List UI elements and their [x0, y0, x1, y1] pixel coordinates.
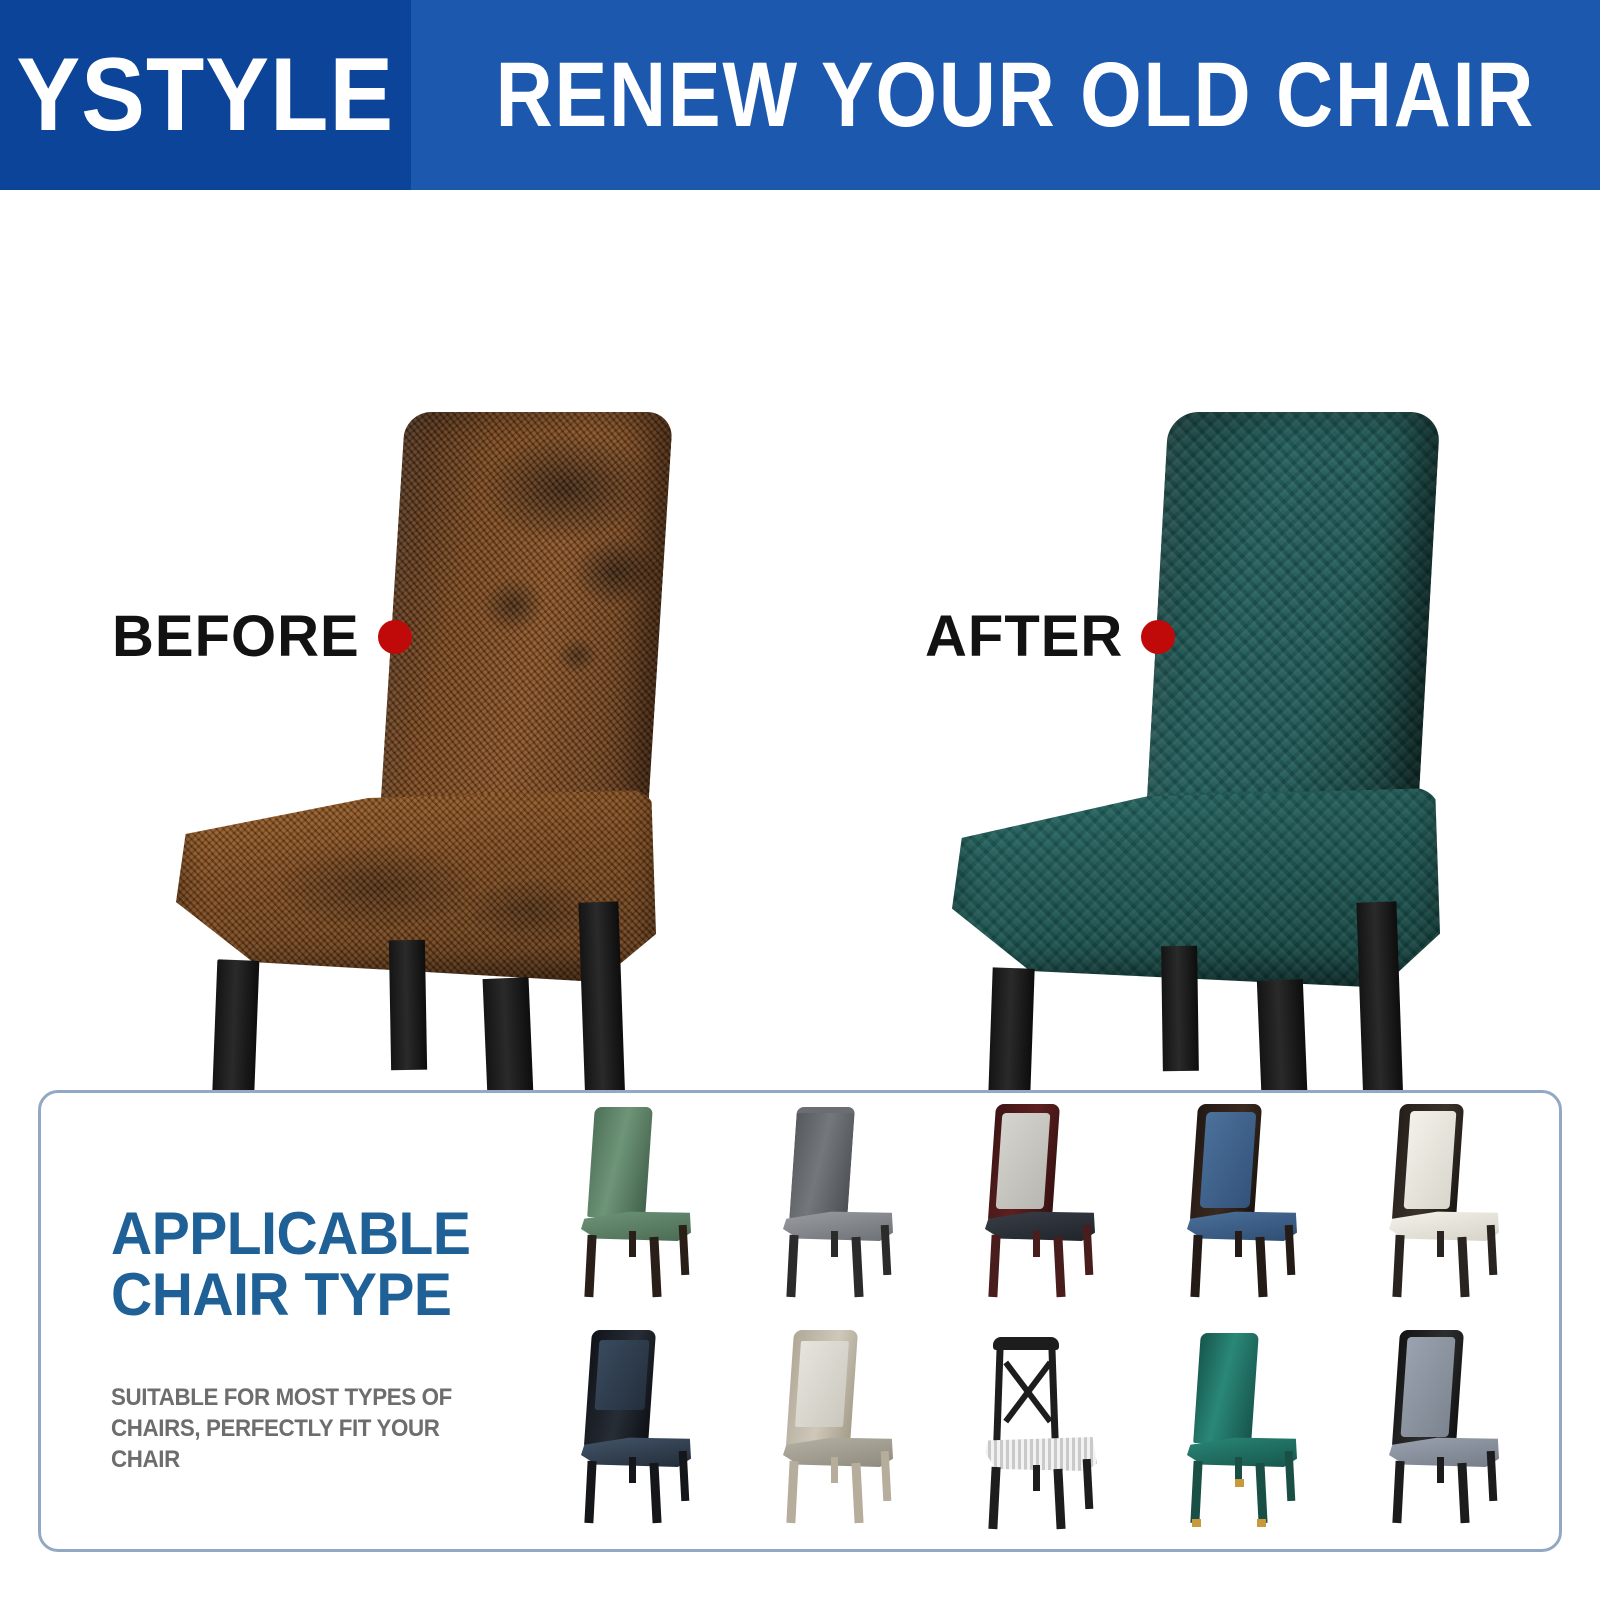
chair-leg: [1053, 1469, 1065, 1529]
after-label-group: AFTER: [925, 608, 1175, 666]
chair-thumbnail: [743, 1097, 945, 1323]
black-cross-back-chair: [981, 1333, 1111, 1523]
chair-thumbnail: [743, 1323, 945, 1549]
chair-leg: [1235, 1231, 1242, 1257]
chair-leg: [851, 1463, 863, 1523]
red-dot-icon: [1141, 620, 1175, 654]
chair-leg: [831, 1231, 838, 1257]
chair-leg: [1255, 1463, 1267, 1523]
chair-backrest: [993, 1337, 1059, 1441]
applicable-chair-type-panel: APPLICABLE CHAIR TYPE SUITABLE FOR MOST …: [38, 1090, 1562, 1552]
chair-leg: [1457, 1463, 1469, 1523]
chair-foot-cap: [1192, 1519, 1201, 1527]
beige-classic-chair: [779, 1333, 909, 1523]
chair-leg: [1392, 1235, 1404, 1297]
chair-leg: [1437, 1231, 1444, 1257]
chair-leg: [1255, 1237, 1267, 1297]
chair-thumbnail: [945, 1097, 1147, 1323]
chair-leg: [1053, 1237, 1065, 1297]
after-chair-backrest: [1145, 412, 1440, 824]
chair-leg: [1033, 1465, 1040, 1491]
mahogany-light-panel-chair: [981, 1107, 1111, 1297]
chair-backrest: [1404, 1111, 1457, 1209]
before-chair-leg: [389, 940, 427, 1071]
red-dot-icon: [378, 620, 412, 654]
chair-leg: [629, 1231, 636, 1257]
after-chair-leg: [1356, 901, 1403, 1110]
chair-leg: [649, 1463, 661, 1523]
chair-leg: [851, 1237, 863, 1297]
teal-velvet-chair: [1183, 1333, 1313, 1523]
before-chair-backrest: [379, 412, 673, 832]
panel-title-line1: APPLICABLE: [111, 1203, 520, 1264]
chair-foot-cap: [1257, 1519, 1266, 1527]
chair-thumbnail: [541, 1323, 743, 1549]
tagline-block: RENEW YOUR OLD CHAIR: [411, 0, 1600, 190]
before-chair-leg: [578, 901, 625, 1112]
chair-thumbnail: [1349, 1323, 1551, 1549]
chair-leg: [1190, 1235, 1202, 1297]
chair-leg: [649, 1237, 661, 1297]
gray-panel-back-chair: [779, 1107, 909, 1297]
chair-leg: [629, 1457, 636, 1483]
chair-backrest: [795, 1341, 849, 1427]
chair-type-grid: [541, 1097, 1551, 1549]
chair-leg: [988, 1235, 1000, 1297]
navy-leather-chair: [577, 1333, 707, 1523]
cream-slim-back-chair: [1385, 1107, 1515, 1297]
chair-stile: [993, 1345, 1003, 1441]
chair-seat: [985, 1437, 1097, 1471]
chair-backrest: [1200, 1112, 1257, 1208]
chair-backrest: [595, 1340, 650, 1410]
chair-leg: [584, 1461, 596, 1523]
chair-leg: [1190, 1461, 1202, 1523]
chair-leg: [1392, 1461, 1404, 1523]
chair-thumbnail: [1349, 1097, 1551, 1323]
after-label: AFTER: [925, 608, 1123, 666]
chair-backrest: [1193, 1333, 1259, 1443]
chair-foot-cap: [1235, 1479, 1244, 1487]
panel-title-line2: CHAIR TYPE: [111, 1264, 520, 1325]
chair-backrest: [789, 1107, 855, 1223]
chair-thumbnail: [1147, 1323, 1349, 1549]
chair-stile: [1048, 1345, 1058, 1441]
chair-thumbnail: [945, 1323, 1147, 1549]
chair-backrest: [587, 1107, 653, 1217]
gray-dark-frame-chair: [1385, 1333, 1515, 1523]
chair-leg: [1437, 1457, 1444, 1483]
panel-text-block: APPLICABLE CHAIR TYPE SUITABLE FOR MOST …: [111, 1203, 541, 1476]
header-banner: YSTYLE RENEW YOUR OLD CHAIR: [0, 0, 1600, 190]
panel-subtitle-line1: SUITABLE FOR MOST TYPES OF: [111, 1384, 452, 1411]
before-after-comparison: BEFORE AFTER: [0, 190, 1600, 1070]
tagline: RENEW YOUR OLD CHAIR: [495, 49, 1535, 141]
blue-wood-frame-chair: [1183, 1107, 1313, 1297]
chair-backrest: [996, 1113, 1051, 1209]
chair-leg: [584, 1235, 596, 1297]
chair-leg: [1457, 1237, 1469, 1297]
chair-thumbnail: [1147, 1097, 1349, 1323]
before-label: BEFORE: [112, 608, 360, 666]
green-high-back-chair: [577, 1107, 707, 1297]
chair-leg: [831, 1457, 838, 1483]
chair-leg: [786, 1461, 798, 1523]
brand-block: YSTYLE: [0, 0, 411, 190]
brand-name: YSTYLE: [16, 43, 394, 147]
chair-leg: [786, 1235, 798, 1297]
chair-backrest: [1401, 1337, 1456, 1437]
chair-leg: [1033, 1231, 1040, 1257]
before-label-group: BEFORE: [112, 608, 412, 666]
panel-subtitle-line2: CHAIRS, PERFECTLY FIT YOUR CHAIR: [111, 1415, 439, 1473]
chair-leg: [988, 1467, 1000, 1529]
chair-thumbnail: [541, 1097, 743, 1323]
after-chair-leg: [1161, 946, 1199, 1071]
panel-subtitle: SUITABLE FOR MOST TYPES OF CHAIRS, PERFE…: [111, 1383, 511, 1475]
